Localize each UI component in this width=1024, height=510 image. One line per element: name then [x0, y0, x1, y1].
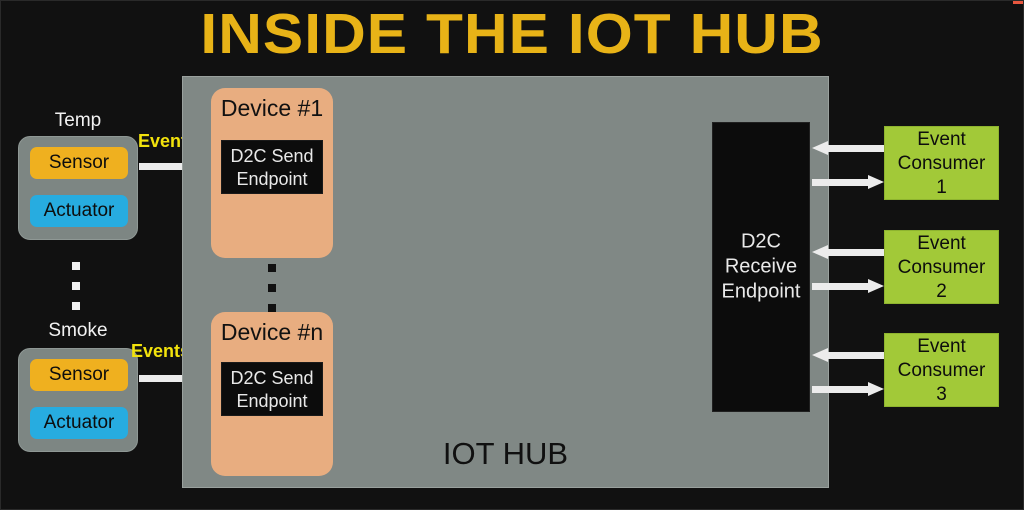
d2c-send-endpoint-line2: Endpoint — [222, 168, 322, 191]
dot — [268, 264, 276, 272]
arrow-head — [812, 245, 828, 259]
d2c-send-endpoint-1[interactable]: D2C Send Endpoint — [221, 140, 323, 194]
dot — [72, 282, 80, 290]
d2c-receive-line3: Endpoint — [713, 280, 809, 305]
arrow-hub-to-consumer2 — [812, 279, 884, 293]
dot — [72, 262, 80, 270]
diagram-canvas: INSIDE THE IOT HUB Temp Sensor Actuator … — [0, 0, 1024, 510]
sensor-group-temp[interactable]: Sensor Actuator — [18, 136, 138, 240]
event-consumer-2-line2: Consumer — [885, 256, 998, 280]
arrow-head — [812, 348, 828, 362]
arrow-hub-to-consumer3 — [812, 382, 884, 396]
event-consumer-3[interactable]: Event Consumer 3 — [884, 333, 999, 407]
dot — [268, 284, 276, 292]
d2c-receive-line2: Receive — [713, 255, 809, 280]
arrow-shaft — [827, 352, 884, 359]
d2c-receive-endpoint-text: D2C Receive Endpoint — [713, 230, 809, 305]
actuator-chip-smoke[interactable]: Actuator — [30, 407, 128, 439]
dot — [72, 302, 80, 310]
actuator-chip-temp[interactable]: Actuator — [30, 195, 128, 227]
d2c-send-endpoint-n[interactable]: D2C Send Endpoint — [221, 362, 323, 416]
event-consumer-3-line1: Event — [885, 335, 998, 359]
event-consumer-3-line2: Consumer — [885, 359, 998, 383]
corner-accent-strip — [1013, 0, 1024, 4]
arrow-head — [868, 382, 884, 396]
device-box-1[interactable]: Device #1 D2C Send Endpoint — [211, 88, 333, 258]
d2c-send-endpoint-line1: D2C Send — [222, 145, 322, 168]
sensor-group-label-smoke: Smoke — [18, 320, 138, 342]
ellipsis-dots-sensors — [72, 262, 80, 322]
arrow-consumer3-to-hub — [812, 348, 884, 362]
event-consumer-2[interactable]: Event Consumer 2 — [884, 230, 999, 304]
sensor-group-smoke[interactable]: Sensor Actuator — [18, 348, 138, 452]
event-consumer-2-line1: Event — [885, 232, 998, 256]
arrow-shaft — [827, 145, 884, 152]
d2c-send-endpoint-line1: D2C Send — [222, 367, 322, 390]
event-consumer-1-line3: 1 — [885, 176, 998, 200]
d2c-send-endpoint-line2: Endpoint — [222, 390, 322, 413]
arrow-shaft — [812, 283, 869, 290]
device-title-1: Device #1 — [211, 94, 333, 122]
d2c-receive-endpoint[interactable]: D2C Receive Endpoint — [712, 122, 810, 412]
event-consumer-1-line2: Consumer — [885, 152, 998, 176]
page-title: INSIDE THE IOT HUB — [0, 2, 1024, 66]
arrow-consumer1-to-hub — [812, 141, 884, 155]
event-consumer-1-line1: Event — [885, 128, 998, 152]
sensor-group-label-temp: Temp — [18, 110, 138, 132]
sensor-chip-smoke[interactable]: Sensor — [30, 359, 128, 391]
event-consumer-2-line3: 2 — [885, 280, 998, 304]
arrow-shaft — [827, 249, 884, 256]
device-box-n[interactable]: Device #n D2C Send Endpoint — [211, 312, 333, 476]
d2c-receive-line1: D2C — [713, 230, 809, 255]
arrow-head — [812, 141, 828, 155]
arrow-head — [868, 279, 884, 293]
event-consumer-3-line3: 3 — [885, 383, 998, 407]
device-title-n: Device #n — [211, 318, 333, 346]
sensor-chip-temp[interactable]: Sensor — [30, 147, 128, 179]
arrow-hub-to-consumer1 — [812, 175, 884, 189]
event-consumer-1[interactable]: Event Consumer 1 — [884, 126, 999, 200]
arrow-shaft — [812, 386, 869, 393]
arrow-consumer2-to-hub — [812, 245, 884, 259]
arrow-shaft — [812, 179, 869, 186]
arrow-head — [868, 175, 884, 189]
dot — [268, 304, 276, 312]
